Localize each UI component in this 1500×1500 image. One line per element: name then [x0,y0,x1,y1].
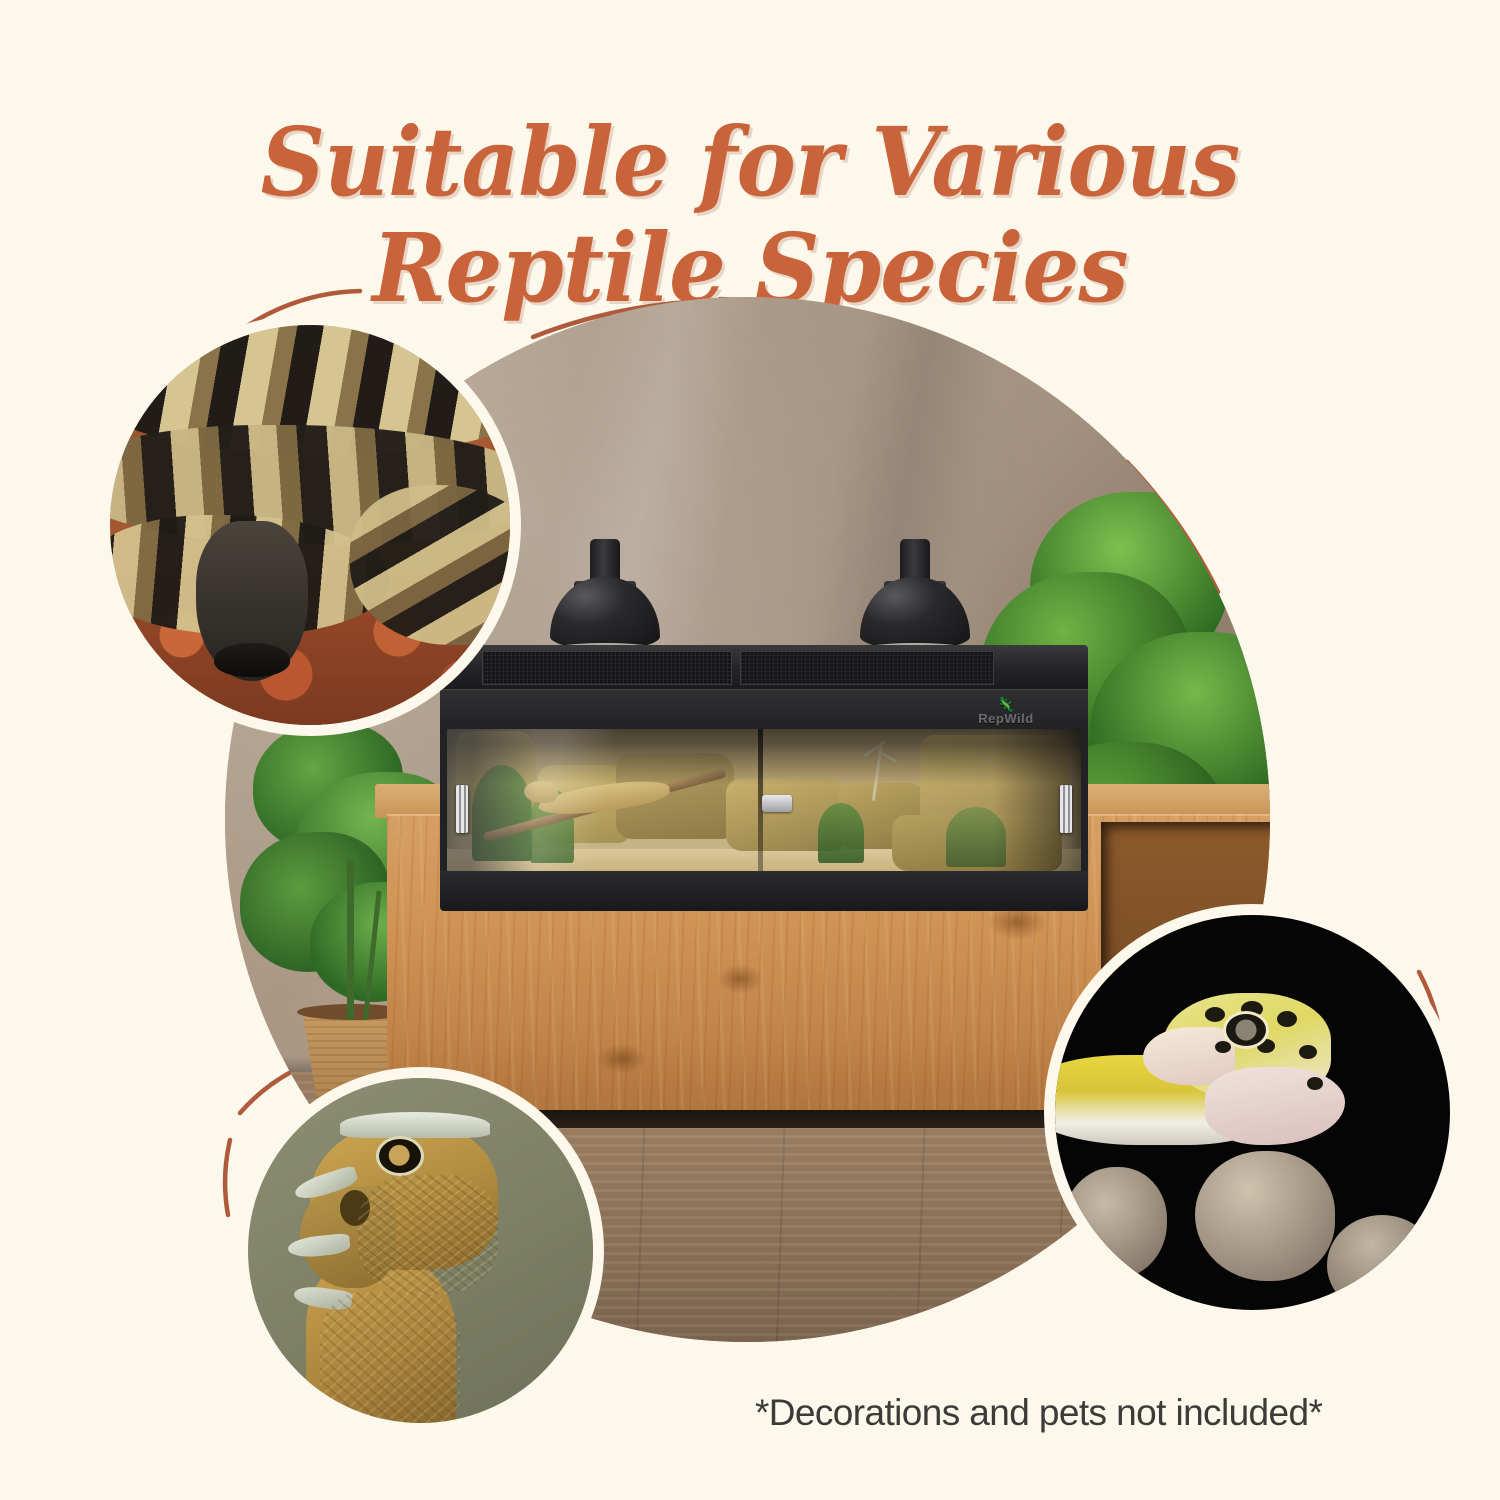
left-heat-lamp [550,547,660,657]
mesh-panel-right [740,651,994,685]
brand-logo: 🦎 RepWild [958,695,1054,727]
lizard-icon: 🦎 [997,697,1015,711]
reptile-terrarium: 🦎 RepWild [440,645,1088,911]
page-title: Suitable for Various Reptile Species [45,110,1455,323]
marketing-banner: Suitable for Various Reptile Species [0,0,1500,1500]
disclaimer-text: *Decorations and pets not included* [755,1392,1322,1434]
ball-python-photo [110,325,510,725]
right-heat-lamp [860,547,970,657]
lamp-dome [860,577,970,649]
inset-bearded-dragon [248,1078,593,1423]
lamp-dome [550,577,660,649]
terrarium-hood [440,645,1088,689]
inset-ball-python [110,325,510,725]
right-door-handle[interactable] [1060,785,1072,833]
left-door-handle[interactable] [456,785,468,833]
terrarium-base [440,871,1088,911]
mesh-panel-left [482,651,732,685]
door-lock[interactable] [762,795,792,812]
leopard-gecko-photo [1055,915,1450,1310]
bearded-dragon-photo [248,1078,593,1423]
inset-leopard-gecko [1055,915,1450,1310]
gecko-eye [1223,1011,1269,1049]
brand-name: RepWild [978,712,1033,725]
dragon-eye [376,1136,424,1176]
